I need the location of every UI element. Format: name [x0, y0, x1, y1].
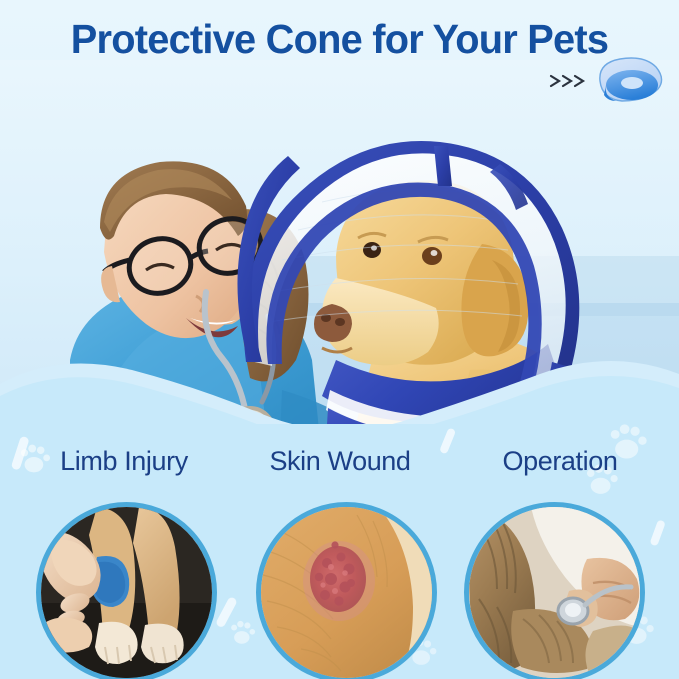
use-case-image-operation: [464, 502, 645, 679]
use-case-labels: Limb Injury Skin Wound Operation: [0, 444, 679, 484]
page-title: Protective Cone for Your Pets: [10, 16, 669, 62]
use-case-image-skin-wound: [256, 502, 437, 679]
use-case-label-limb-injury: Limb Injury: [14, 444, 234, 478]
arrow-marks: [548, 72, 588, 96]
chevron-right-icon: [548, 72, 588, 90]
product-infographic: Protective Cone for Your Pets: [0, 0, 679, 679]
use-case-image-limb-injury: [36, 502, 217, 679]
use-case-label-operation: Operation: [455, 444, 665, 478]
inflatable-cone-collar-icon: [586, 55, 668, 107]
use-case-label-skin-wound: Skin Wound: [240, 444, 440, 478]
